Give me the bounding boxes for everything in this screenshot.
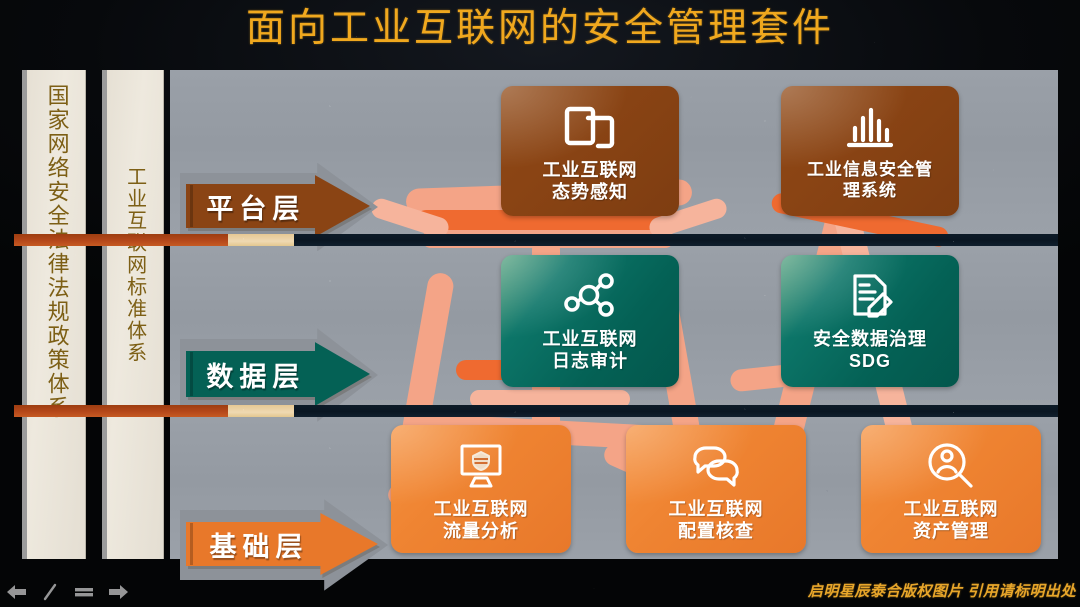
tile-caption: 工业信息安全管 理系统 bbox=[807, 160, 933, 201]
arrow-right-icon[interactable] bbox=[108, 582, 128, 602]
layer-arrow-data[interactable]: 数据层 bbox=[186, 342, 370, 406]
tile-caption-line1: 工业互联网 bbox=[904, 499, 999, 519]
tile-caption-line1: 工业互联网 bbox=[434, 499, 529, 519]
presenter-toolbar bbox=[6, 582, 128, 602]
layer-divider-1 bbox=[14, 234, 1058, 246]
network-nodes-icon bbox=[563, 269, 617, 323]
tile-industrial-internet-situational-awareness[interactable]: 工业互联网 态势感知 bbox=[501, 86, 679, 216]
tile-caption: 安全数据治理 SDG bbox=[813, 329, 927, 373]
chat-bubbles-icon bbox=[688, 439, 744, 493]
tile-caption: 工业互联网 日志审计 bbox=[543, 329, 638, 373]
layer-divider-2 bbox=[14, 405, 1058, 417]
person-search-icon bbox=[925, 439, 977, 493]
sidebar-panel-industrial-internet-standards: 工业互联网标准体系 bbox=[102, 70, 164, 559]
monitor-shield-icon bbox=[453, 439, 509, 493]
slide-stage: 面向工业互联网的安全管理套件 bbox=[0, 0, 1080, 607]
tile-caption-line1: 安全数据治理 bbox=[813, 329, 927, 349]
tile-caption-line2: 配置核查 bbox=[669, 521, 764, 543]
bar-chart-icon bbox=[844, 100, 896, 154]
tile-industrial-information-security-management-system[interactable]: 工业信息安全管 理系统 bbox=[781, 86, 959, 216]
tile-caption-line1: 工业互联网 bbox=[669, 499, 764, 519]
tile-industrial-internet-log-audit[interactable]: 工业互联网 日志审计 bbox=[501, 255, 679, 387]
tile-caption-line2: 资产管理 bbox=[904, 521, 999, 543]
layer-arrow-label: 平台层 bbox=[186, 175, 326, 237]
sidebar-panel-label: 国家网络安全法律法规政策体系 bbox=[44, 70, 67, 559]
tile-caption: 工业互联网 态势感知 bbox=[543, 160, 638, 204]
tile-caption-line1: 工业信息安全管 bbox=[807, 160, 933, 179]
tile-caption: 工业互联网 资产管理 bbox=[904, 499, 999, 543]
tile-industrial-internet-asset-management[interactable]: 工业互联网 资产管理 bbox=[861, 425, 1041, 553]
tile-industrial-internet-configuration-audit[interactable]: 工业互联网 配置核查 bbox=[626, 425, 806, 553]
pen-icon[interactable] bbox=[40, 582, 60, 602]
layer-arrow-label: 数据层 bbox=[186, 342, 326, 406]
layer-arrow-infrastructure[interactable]: 基础层 bbox=[186, 513, 378, 575]
tile-security-data-governance-sdg[interactable]: 安全数据治理 SDG bbox=[781, 255, 959, 387]
copyright-note: 启明星辰泰合版权图片 引用请标明出处 bbox=[808, 580, 1076, 601]
overlapping-squares-icon bbox=[564, 100, 616, 154]
tile-caption: 工业互联网 配置核查 bbox=[669, 499, 764, 543]
layer-arrow-label: 基础层 bbox=[186, 513, 332, 575]
tile-caption-line2: SDG bbox=[813, 351, 927, 373]
slide-content: 国家网络安全法律法规政策体系 工业互联网标准体系 平台层 bbox=[14, 70, 1058, 559]
tile-caption-line1: 工业互联网 bbox=[543, 329, 638, 349]
tile-caption-line2: 流量分析 bbox=[434, 521, 529, 543]
tile-industrial-internet-traffic-analysis[interactable]: 工业互联网 流量分析 bbox=[391, 425, 571, 553]
tile-caption-line2: 日志审计 bbox=[543, 351, 638, 373]
sidebar-panel-label: 工业互联网标准体系 bbox=[124, 70, 145, 559]
tile-caption-line2: 理系统 bbox=[807, 181, 933, 202]
layer-arrow-platform[interactable]: 平台层 bbox=[186, 175, 370, 237]
arrow-left-icon[interactable] bbox=[6, 582, 26, 602]
document-edit-icon bbox=[845, 269, 895, 323]
tile-caption: 工业互联网 流量分析 bbox=[434, 499, 529, 543]
sidebar-panel-national-cybersecurity-policy: 国家网络安全法律法规政策体系 bbox=[22, 70, 86, 559]
tile-caption-line2: 态势感知 bbox=[543, 182, 638, 204]
menu-icon[interactable] bbox=[74, 582, 94, 602]
tile-caption-line1: 工业互联网 bbox=[543, 160, 638, 180]
page-title: 面向工业互联网的安全管理套件 bbox=[0, 1, 1080, 57]
